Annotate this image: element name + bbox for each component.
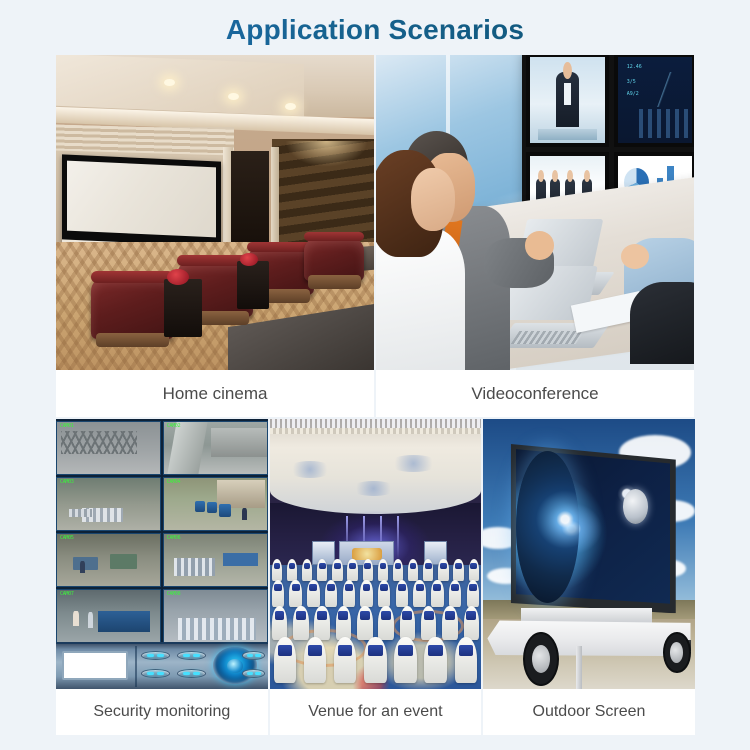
product-stack [178,618,256,640]
pallet-stack [69,509,92,516]
gallery-row-1: Home cinema [56,55,695,417]
blue-drum [98,611,149,632]
page-title: Application Scenarios [0,0,750,46]
attendee-woman-face [411,168,456,231]
worker [73,611,78,627]
dvr-button[interactable] [177,651,207,660]
scenario-card-venue[interactable]: Venue for an event [270,419,482,735]
stored-goods [73,557,98,571]
chair-row [270,637,482,683]
dvr-button[interactable] [177,669,207,678]
blue-drum [223,553,258,567]
scenario-card-security-monitoring[interactable]: CAM01 CAM02 CAM03 CAM04 [56,419,268,735]
panel-divider [135,646,137,688]
stored-goods [174,558,215,576]
trailer-wheel [663,632,691,673]
camera-feed-7: CAM07 [56,589,161,643]
remote-desk [538,129,598,139]
camera-feed-4: CAM04 [163,477,268,531]
ceiling-medallion [388,455,439,472]
camera-feed-5: CAM05 [56,533,161,587]
card-caption: Home cinema [56,370,374,417]
trailer-jack [576,646,582,689]
camera-timestamp: CAM03 [60,479,74,485]
camera-timestamp: CAM01 [60,423,74,429]
attendee-right-dark-suit [630,282,694,364]
wall [211,428,267,457]
card-caption: Venue for an event [270,689,482,735]
side-table [237,261,269,309]
wall [167,422,207,474]
camera-feed-6: CAM06 [163,533,268,587]
blue-drum [195,501,205,512]
video-wall-monitor-2: 12.46 3/5 A9/2 [614,55,694,147]
cctv-multiview-grid: CAM01 CAM02 CAM03 CAM04 [56,419,268,643]
home-cinema-photo [56,55,374,370]
camera-timestamp: CAM04 [167,479,181,485]
camera-timestamp: CAM02 [167,423,181,429]
ceiling-light-icon [228,93,239,100]
wall-wash-light [285,141,368,167]
ceiling-inset [56,55,304,116]
dvr-lcd-display [62,651,128,680]
card-caption: Security monitoring [56,689,268,735]
security-monitoring-photo: CAM01 CAM02 CAM03 CAM04 [56,419,268,689]
factory-gate [61,431,137,454]
armchair-headrest [91,271,174,283]
earth-graphic [516,451,579,602]
remote-attendee-head [538,170,544,182]
dvr-button[interactable] [141,669,171,678]
armchair [91,277,174,339]
left-wall-molding [56,125,234,156]
dvr-button[interactable] [242,669,265,678]
side-table [164,279,202,337]
remote-presenter-head [563,62,572,79]
attendee-man-hand [525,231,554,259]
dvr-button[interactable] [242,651,265,660]
videoconference-photo: 12.46 3/5 A9/2 [376,55,694,370]
chair-row [270,580,482,607]
laptop-keyboard [511,331,585,344]
blue-drum [207,502,217,513]
ballroom-ceiling [270,419,482,514]
camera-feed-2: CAM02 [163,421,268,475]
worker [88,612,93,628]
scenario-card-videoconference[interactable]: 12.46 3/5 A9/2 [376,55,694,417]
scenario-gallery: Home cinema [56,55,695,735]
ceiling-medallion [287,461,334,478]
scenario-card-home-cinema[interactable]: Home cinema [56,55,374,417]
video-wall-monitor-1 [526,55,609,147]
camera-timestamp: CAM07 [60,591,74,597]
stock-line-chart [640,72,689,107]
remote-attendee-head [567,170,573,182]
worker [242,508,247,519]
chair-row [270,606,482,640]
camera-timestamp: CAM06 [167,535,181,541]
projection-screen [67,161,216,238]
card-caption: Outdoor Screen [483,689,695,735]
card-caption: Videoconference [376,370,694,417]
ceiling-light-icon [285,103,296,110]
stock-bar-chart [639,109,690,138]
dvr-control-panel[interactable] [56,642,268,689]
gallery-row-2: CAM01 CAM02 CAM03 CAM04 [56,419,695,735]
camera-feed-1: CAM01 [56,421,161,475]
chair-rows [270,559,482,689]
outdoor-screen-photo [483,419,695,689]
light-beam [397,516,399,559]
chair-row [270,559,482,581]
venue-photo [270,419,482,689]
scenario-card-outdoor-screen[interactable]: Outdoor Screen [483,419,695,735]
armchair-headrest [304,232,364,241]
dvr-button[interactable] [141,651,171,660]
worker [80,561,85,572]
camera-timestamp: CAM08 [167,591,181,597]
ceiling-strip [270,428,482,435]
armchair [304,237,364,281]
blue-drum [219,504,230,516]
camera-feed-8: CAM08 [163,589,268,643]
camera-feed-3: CAM03 [56,477,161,531]
stored-goods [110,554,137,570]
camera-timestamp: CAM05 [60,535,74,541]
ceiling-medallion [350,481,397,496]
remote-presenter-shirt [564,83,571,105]
